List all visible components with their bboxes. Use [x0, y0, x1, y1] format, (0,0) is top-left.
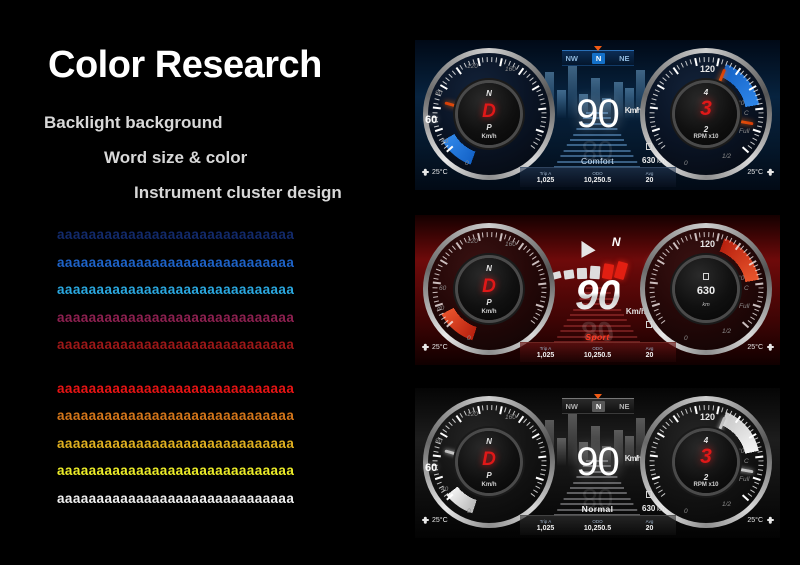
rpm-unit-label: RPM x10 [675, 482, 737, 488]
gear-drive-active: D [458, 450, 520, 469]
speed-highlight-value: 60 [425, 462, 437, 474]
speed-gauge-unit: Km/h [458, 134, 520, 140]
rpm-lower-mark: 2 [675, 473, 737, 482]
trip-key: ODO [572, 168, 624, 177]
swatch-row-orange: aaaaaaaaaaaaaaaaaaaaaaaaaaaaaa [57, 409, 397, 423]
instrument-cluster-comfort: NW N NE 90Km/h 80 Comfort 60 40 80 120 1… [415, 40, 780, 190]
tachometer-fuel-gauge: 120 -40 C Full 1/2 0 4 3 2 RPM x10 630 k… [640, 396, 772, 528]
fan-icon [766, 343, 774, 351]
tachometer-fuel-gauge: 120 -40 C Full 1/2 0 630 km [640, 223, 772, 355]
compass-left-label: NW [566, 402, 579, 411]
range-value: 630 [642, 156, 655, 165]
speed-tick-label: 40 [441, 138, 448, 145]
speed-tick-label: 80 [435, 438, 442, 445]
rpm-indicator-hub: 4 3 2 RPM x10 [675, 83, 737, 145]
fuel-half-label: 1/2 [722, 501, 731, 508]
bullet-word-size-color: Word size & color [104, 148, 247, 168]
trip-cell: Trip A 1,025 Km [520, 343, 572, 362]
trip-value: 10,250.5 [572, 177, 624, 185]
compass-arrow-group: N [575, 235, 621, 257]
climate-right-temp: 25°C [747, 169, 763, 176]
swatch-row-navy-dark: aaaaaaaaaaaaaaaaaaaaaaaaaaaaaa [57, 228, 397, 242]
compass-current-heading: N [612, 235, 621, 249]
drive-mode-label: Normal [582, 504, 614, 514]
fuel-full-label: Full [739, 476, 749, 483]
trip-key: Trip A [520, 516, 572, 525]
trip-cell: ODO 10,250.5 Km [572, 168, 624, 187]
trip-info-bar: Trip A 1,025 Km ODO 10,250.5 Km Avg 20 K… [520, 342, 676, 362]
fan-icon [421, 168, 429, 176]
compass-right-label: NE [619, 402, 629, 411]
slide-canvas: Color Research Backlight background Word… [0, 0, 800, 565]
compass-current-heading: N [592, 401, 605, 412]
trip-value: 10,250.5 [572, 525, 624, 533]
swatch-row-blue: aaaaaaaaaaaaaaaaaaaaaaaaaaaaaa [57, 256, 397, 270]
trip-cell: Avg 20 Km/L [624, 343, 676, 362]
swatch-row-white: aaaaaaaaaaaaaaaaaaaaaaaaaaaaaa [57, 492, 397, 506]
climate-right-temp: 25°C [747, 517, 763, 524]
speed-unit: Km/h [625, 91, 641, 131]
rpm-current-value: 3 [675, 98, 737, 119]
speed-tick-label: 160 [505, 414, 516, 421]
speed-tick-label: 0 [467, 508, 471, 515]
climate-left: 25°C [421, 168, 448, 176]
trip-key: Trip A [520, 168, 572, 177]
temp-unit-label: C [744, 110, 749, 117]
speed-value: 90Km/h [576, 442, 619, 482]
gear-park: P [458, 123, 520, 132]
gear-neutral: N [458, 89, 520, 98]
range-readout: 630 km [642, 504, 665, 513]
temp-unit-label: C [744, 458, 749, 465]
speed-readout: 90Km/h 80 [576, 94, 619, 134]
range-value: 630 [642, 504, 655, 513]
fuel-full-label: Full [739, 128, 749, 135]
speed-readout: 90 Km/h 80 [575, 275, 620, 315]
compass-current-heading: N [592, 53, 605, 64]
speed-value: 90 [575, 275, 620, 315]
climate-left-temp: 25°C [432, 344, 448, 351]
speed-gauge-unit: Km/h [458, 309, 520, 315]
swatch-row-gold: aaaaaaaaaaaaaaaaaaaaaaaaaaaaaa [57, 437, 397, 451]
climate-right-temp: 25°C [747, 344, 763, 351]
range-value: 630 [675, 285, 737, 297]
speed-value: 90Km/h [576, 94, 619, 134]
fuel-range-hub: 630 km [675, 258, 737, 320]
trip-info-bar: Trip A 1,025 Km ODO 10,250.5 Km Avg 20 K… [520, 515, 676, 535]
speedometer-gauge: 60 80 120 160 0 N D P Km/h [423, 223, 555, 355]
trip-cell: Trip A 1,025 Km [520, 516, 572, 535]
fuel-empty-label: 0 [684, 335, 688, 342]
climate-right: 25°C [747, 168, 774, 176]
fuel-half-label: 1/2 [722, 153, 731, 160]
gear-segment [563, 269, 574, 279]
speedometer-gauge: 60 40 80 120 160 0 N D P Km/h [423, 48, 555, 180]
trip-key: Trip A [520, 343, 572, 352]
instrument-cluster-sport: N 6 90 Km/h 80 Sport 60 80 120 160 0 [415, 215, 780, 365]
compass-left-label: NW [566, 54, 579, 63]
trip-value: 1,025 [520, 177, 572, 185]
rpm-upper-mark: 4 [675, 436, 737, 445]
trip-cell: ODO 10,250.5 Km [572, 343, 624, 362]
bullet-backlight-background: Backlight background [44, 113, 223, 133]
rpm-unit-label: RPM x10 [675, 134, 737, 140]
trip-info-bar: Trip A 1,025 Km ODO 10,250.5 Km Avg 20 K… [520, 167, 676, 187]
fuel-empty-label: 0 [684, 508, 688, 515]
temp-high-label: 120 [700, 412, 715, 422]
speed-highlight-value: 60 [425, 114, 437, 126]
speed-tick-label: 160 [505, 241, 516, 248]
tachometer-fuel-gauge: 120 -40 C Full 1/2 0 4 3 2 RPM x10 630 k… [640, 48, 772, 180]
speed-tick-label: 120 [467, 411, 478, 418]
speed-tick-label: 80 [435, 90, 442, 97]
speed-tick-label: 0 [465, 160, 469, 167]
gear-park: P [458, 298, 520, 307]
fuel-pump-icon [675, 271, 737, 281]
bullet-instrument-cluster: Instrument cluster design [134, 183, 342, 203]
speed-tick-label: 120 [467, 63, 478, 70]
trip-key: Avg [624, 343, 676, 352]
speed-tick-label: 160 [505, 66, 516, 73]
temp-high-label: 120 [700, 64, 715, 74]
gear-drive-active: D [458, 102, 520, 121]
speed-tick-label: 120 [467, 238, 478, 245]
trip-value: 20 [624, 352, 676, 360]
rpm-current-value: 3 [675, 446, 737, 467]
climate-left: 25°C [421, 343, 448, 351]
fan-icon [766, 516, 774, 524]
speed-tick-label: 40 [441, 486, 448, 493]
fan-icon [421, 516, 429, 524]
fuel-pump-icon [646, 321, 652, 329]
speed-gauge-unit: Km/h [458, 482, 520, 488]
climate-left-temp: 25°C [432, 169, 448, 176]
trip-value: 1,025 [520, 525, 572, 533]
temp-unit-label: C [744, 285, 749, 292]
temp-high-label: 120 [700, 239, 715, 249]
instrument-cluster-normal: NW N NE 90Km/h 80 Normal 60 40 80 120 16… [415, 388, 780, 538]
gear-indicator-hub: N D P Km/h [458, 83, 520, 145]
speed-readout: 90Km/h 80 [576, 442, 619, 482]
climate-right: 25°C [747, 516, 774, 524]
trip-value: 20 [624, 525, 676, 533]
fuel-empty-label: 0 [684, 160, 688, 167]
gear-neutral: N [458, 264, 520, 273]
gear-neutral: N [458, 437, 520, 446]
drive-mode-label: Comfort [581, 156, 614, 166]
fan-icon [421, 343, 429, 351]
swatch-row-magenta-dark: aaaaaaaaaaaaaaaaaaaaaaaaaaaaaa [57, 311, 397, 325]
page-title: Color Research [48, 44, 322, 87]
trip-value: 10,250.5 [572, 352, 624, 360]
compass-right-label: NE [619, 54, 629, 63]
trip-cell: ODO 10,250.5 Km [572, 516, 624, 535]
compass-bar: NW N NE [562, 50, 634, 66]
speed-tick-label: 80 [437, 305, 444, 312]
climate-right: 25°C [747, 343, 774, 351]
range-unit: km [657, 507, 665, 513]
speed-tick-label: 60 [439, 285, 446, 292]
range-readout: 630 km [642, 156, 665, 165]
fuel-pump-icon [646, 491, 652, 499]
swatch-row-cyan-blue: aaaaaaaaaaaaaaaaaaaaaaaaaaaaaa [57, 283, 397, 297]
speed-tick-label: 0 [467, 335, 471, 342]
trip-key: Avg [624, 168, 676, 177]
color-swatch-stack: aaaaaaaaaaaaaaaaaaaaaaaaaaaaaa aaaaaaaaa… [57, 228, 397, 505]
range-unit: km [675, 302, 737, 308]
climate-left: 25°C [421, 516, 448, 524]
rpm-upper-mark: 4 [675, 88, 737, 97]
trip-value: 1,025 [520, 352, 572, 360]
rpm-lower-mark: 2 [675, 125, 737, 134]
compass-bar: NW N NE [562, 398, 634, 414]
gear-indicator-hub: N D P Km/h [458, 431, 520, 493]
range-unit: km [657, 159, 665, 165]
trip-cell: Avg 20 Km/L [624, 168, 676, 187]
fuel-full-label: Full [739, 303, 749, 310]
climate-left-temp: 25°C [432, 517, 448, 524]
gear-park: P [458, 471, 520, 480]
trip-cell: Trip A 1,025 Km [520, 168, 572, 187]
trip-key: ODO [572, 516, 624, 525]
trip-cell: Avg 20 Km/L [624, 516, 676, 535]
drive-mode-label: Sport [585, 332, 609, 342]
swatch-row-yellow: aaaaaaaaaaaaaaaaaaaaaaaaaaaaaa [57, 464, 397, 478]
fuel-pump-icon [646, 143, 652, 151]
gear-drive-active: D [458, 277, 520, 296]
text-column: Color Research Backlight background Word… [0, 0, 400, 565]
speed-unit: Km/h [625, 439, 641, 479]
gear-indicator-hub: N D P Km/h [458, 258, 520, 320]
trip-value: 20 [624, 177, 676, 185]
fuel-half-label: 1/2 [722, 328, 731, 335]
swatch-row-red-dark: aaaaaaaaaaaaaaaaaaaaaaaaaaaaaa [57, 338, 397, 352]
fan-icon [766, 168, 774, 176]
speedometer-gauge: 60 40 80 120 160 0 N D P Km/h [423, 396, 555, 528]
trip-key: Avg [624, 516, 676, 525]
trip-key: ODO [572, 343, 624, 352]
swatch-row-red: aaaaaaaaaaaaaaaaaaaaaaaaaaaaaa [57, 382, 397, 396]
rpm-indicator-hub: 4 3 2 RPM x10 [675, 431, 737, 493]
